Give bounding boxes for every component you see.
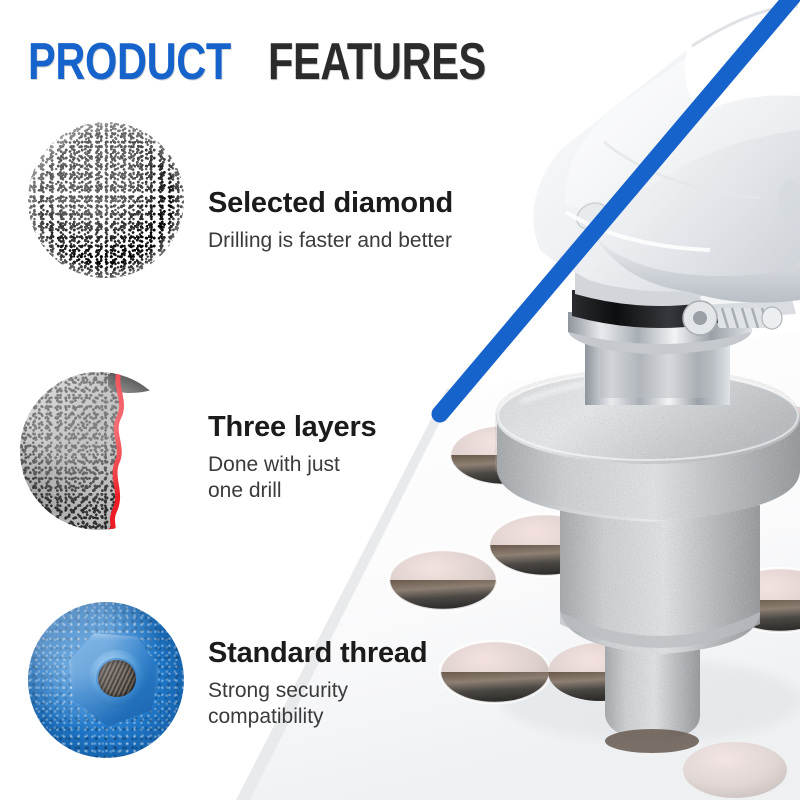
page-title: PRODUCTFEATURES [28,36,540,88]
feature-heading: Selected diamond [208,188,453,220]
product-features-poster: PRODUCTFEATURES Selected diamond Drillin… [0,0,800,800]
hub-body [28,602,184,758]
blue-threaded-hub-thumbnail [28,602,184,758]
threaded-stud [718,307,782,329]
feature-text-block: Selected diamond Drilling is faster and … [208,188,453,254]
hub-highlight [28,602,184,758]
drilled-hole [683,742,787,798]
feature-text-block: Standard thread Strong security compatib… [208,638,427,730]
thumbnail-gloss [20,372,178,530]
drilled-hole [389,550,497,610]
title-word-features: FEATURES [268,36,486,88]
feature-subtext: Done with just one drill [208,452,377,505]
grit-texture-fill [28,122,184,278]
feature-subtext: Drilling is faster and better [208,228,453,254]
drilled-hole [440,641,550,703]
layered-coating-cross-section-thumbnail [20,372,178,530]
layer-texture-fill [20,372,178,530]
diamond-grit-texture-thumbnail [28,122,184,278]
feature-heading: Standard thread [208,638,427,670]
feature-subtext: Strong security compatibility [208,678,427,731]
feature-text-block: Three layers Done with just one drill [208,412,377,504]
feature-heading: Three layers [208,412,377,444]
title-word-product: PRODUCT [28,36,231,88]
